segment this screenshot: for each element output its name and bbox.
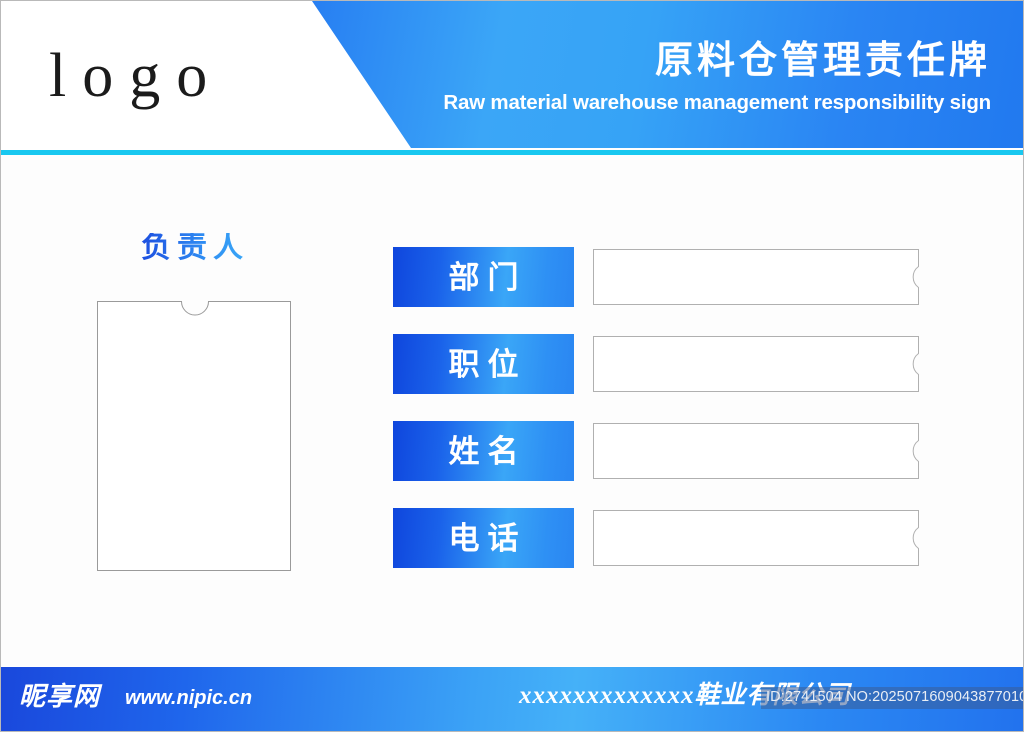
notched-box-outline-icon — [593, 423, 919, 479]
header-title-chinese: 原料仓管理责任牌 — [655, 41, 991, 83]
field-label-text: 姓名 — [441, 436, 527, 467]
field-row: 职位 — [393, 334, 921, 394]
notched-box-outline-icon — [593, 336, 919, 392]
field-value-department[interactable] — [593, 249, 919, 305]
photo-frame[interactable] — [97, 301, 291, 571]
field-label-department: 部门 — [393, 247, 574, 307]
watermark-id-label: ID:2741504 NO:20250716090438770103 — [761, 687, 1024, 709]
notched-box-outline-icon — [593, 510, 919, 566]
notched-box-outline-icon — [593, 249, 919, 305]
header: logo 原料仓管理责任牌 Raw material warehouse man… — [1, 1, 1024, 148]
field-label-name: 姓名 — [393, 421, 574, 481]
field-label-phone: 电话 — [393, 508, 574, 568]
field-row: 姓名 — [393, 421, 921, 481]
field-value-phone[interactable] — [593, 510, 919, 566]
field-label-position: 职位 — [393, 334, 574, 394]
owner-section-label: 负责人 — [141, 233, 249, 263]
field-row: 部门 — [393, 247, 921, 307]
field-value-name[interactable] — [593, 423, 919, 479]
photo-frame-outline-icon — [97, 301, 291, 571]
field-label-text: 部门 — [441, 262, 527, 293]
field-label-text: 电话 — [441, 523, 527, 554]
field-row: 电话 — [393, 508, 921, 568]
field-label-text: 职位 — [441, 349, 527, 380]
footer-brand-logo: 昵享网 — [19, 683, 100, 709]
field-value-position[interactable] — [593, 336, 919, 392]
header-title-english: Raw material warehouse management respon… — [443, 91, 991, 115]
sign-board: logo 原料仓管理责任牌 Raw material warehouse man… — [0, 0, 1024, 732]
logo-placeholder-text: logo — [49, 45, 223, 107]
footer-website-url[interactable]: www.nipic.cn — [125, 688, 252, 708]
